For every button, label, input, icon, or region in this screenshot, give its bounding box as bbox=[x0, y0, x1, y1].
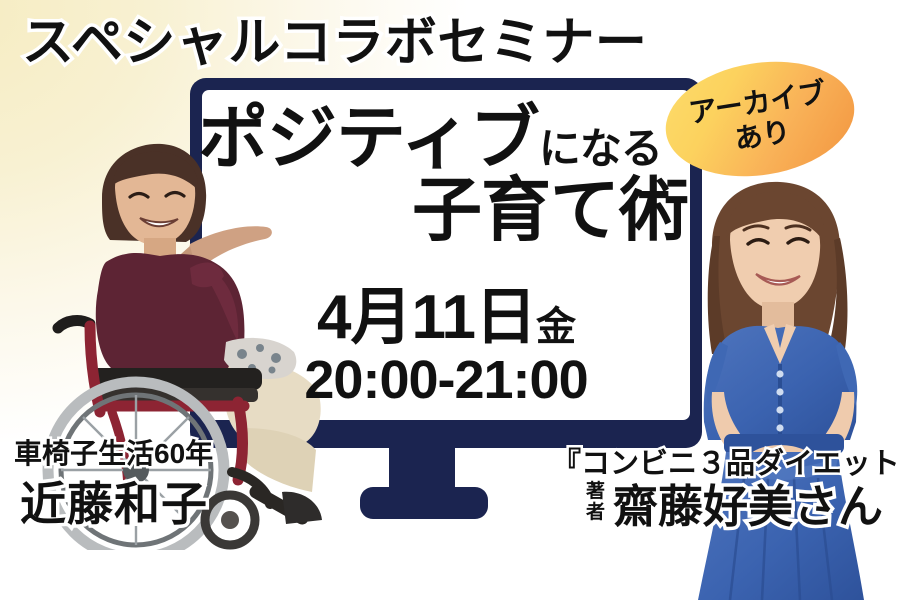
speaker-b-role: 著 者 bbox=[586, 482, 605, 523]
speaker-a-caption: 車椅子生活60年 bbox=[14, 432, 213, 472]
event-day-of-week: 金 bbox=[536, 307, 575, 349]
event-datetime: 4月11日 金 20:00-21:00 bbox=[202, 287, 690, 409]
speaker-b-role-line-1: 著 bbox=[586, 482, 605, 503]
speaker-b-photo bbox=[668, 178, 900, 600]
title-line-1: ポジティブ になる bbox=[198, 103, 694, 173]
page-headline: スペシャルコラボセミナー bbox=[22, 14, 647, 72]
title-sub-text: になる bbox=[539, 128, 662, 173]
event-date-row: 4月11日 金 bbox=[202, 287, 690, 349]
title-main-text: ポジティブ bbox=[198, 103, 539, 173]
event-time: 20:00-21:00 bbox=[202, 351, 690, 409]
seminar-title: ポジティブ になる 子育て術 bbox=[198, 103, 694, 246]
speaker-b-name-row: 著 者 齋藤好美さん bbox=[586, 470, 883, 535]
monitor-base bbox=[360, 487, 488, 519]
event-date: 4月11日 bbox=[317, 287, 536, 349]
archive-badge-line-2: あり bbox=[732, 115, 792, 156]
speaker-b-name: 齋藤好美さん bbox=[613, 470, 883, 535]
seminar-banner: スペシャルコラボセミナー ポジティブ になる 子育て術 アーカイブ あり 4月1… bbox=[0, 0, 900, 600]
speaker-b-role-line-2: 者 bbox=[586, 503, 605, 524]
speaker-a-name: 近藤和子 bbox=[20, 468, 208, 534]
title-line-2: 子育て術 bbox=[198, 175, 694, 246]
